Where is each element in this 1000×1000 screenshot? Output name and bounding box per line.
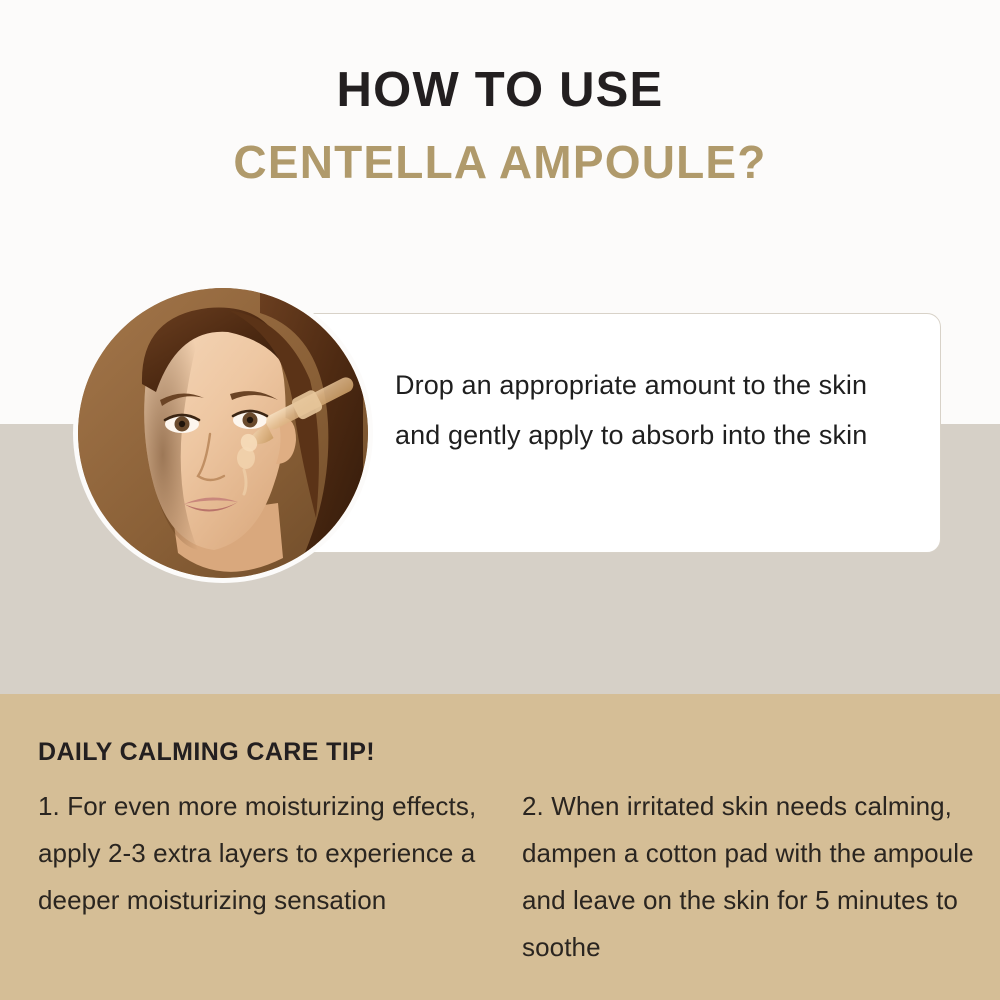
tip-item-2: 2. When irritated skin needs calming, da…	[522, 783, 974, 971]
tip-section-heading: DAILY CALMING CARE TIP!	[38, 738, 375, 767]
tip-item-1: 1. For even more moisturizing effects, a…	[38, 783, 500, 924]
page-title: HOW TO USE CENTELLA AMPOULE?	[0, 62, 1000, 189]
headline-line-primary: HOW TO USE	[0, 62, 1000, 120]
instruction-card-text: Drop an appropriate amount to the skin a…	[395, 360, 915, 460]
headline-line-secondary: CENTELLA AMPOULE?	[0, 135, 1000, 189]
infographic-page: HOW TO USE CENTELLA AMPOULE? Drop an app…	[0, 0, 1000, 1000]
product-usage-photo	[78, 288, 368, 578]
woman-applying-serum-illustration	[78, 288, 368, 578]
